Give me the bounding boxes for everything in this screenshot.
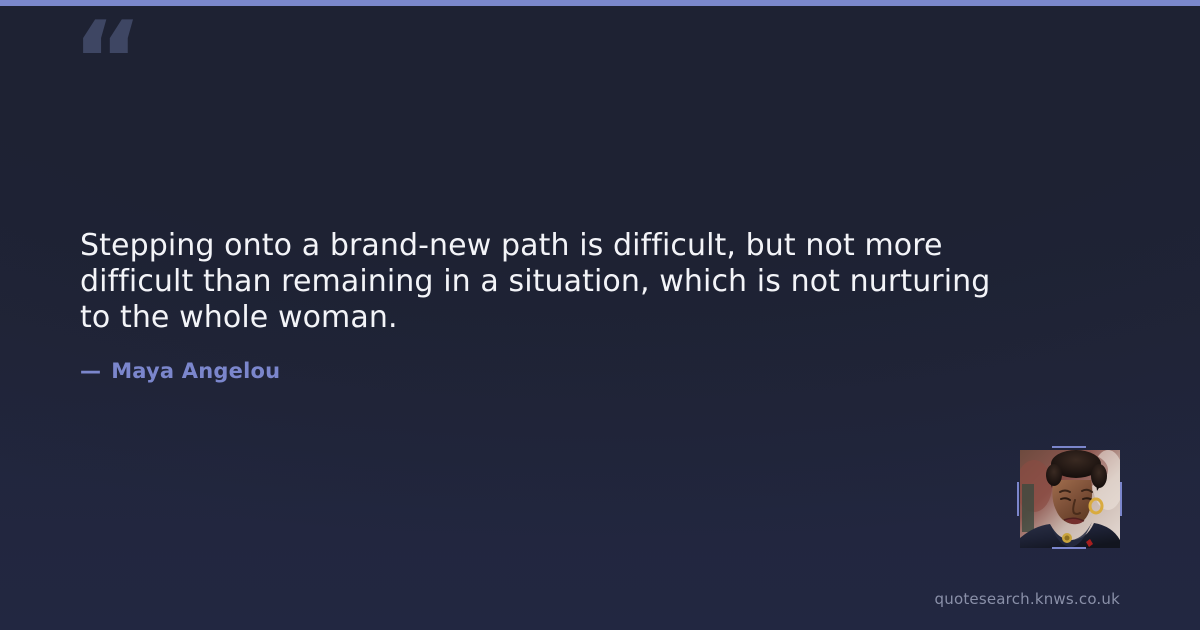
quote-attribution: — Maya Angelou <box>80 357 280 385</box>
source-watermark: quotesearch.knws.co.uk <box>935 589 1120 609</box>
portrait-illustration <box>1020 450 1120 548</box>
em-dash-icon: — <box>80 357 101 385</box>
author-portrait <box>1020 450 1120 548</box>
author-name: Maya Angelou <box>111 357 280 385</box>
top-accent-bar <box>0 0 1200 6</box>
quote-card: “ Stepping onto a brand-new path is diff… <box>0 0 1200 630</box>
author-portrait-image <box>1020 450 1120 548</box>
quote-text: Stepping onto a brand-new path is diffic… <box>80 228 1010 336</box>
portrait-tick-top-icon <box>1052 446 1086 448</box>
open-quote-icon: “ <box>72 8 141 116</box>
portrait-tick-left-icon <box>1017 482 1019 516</box>
portrait-tick-right-icon <box>1120 482 1122 516</box>
portrait-tick-bottom-icon <box>1052 547 1086 549</box>
